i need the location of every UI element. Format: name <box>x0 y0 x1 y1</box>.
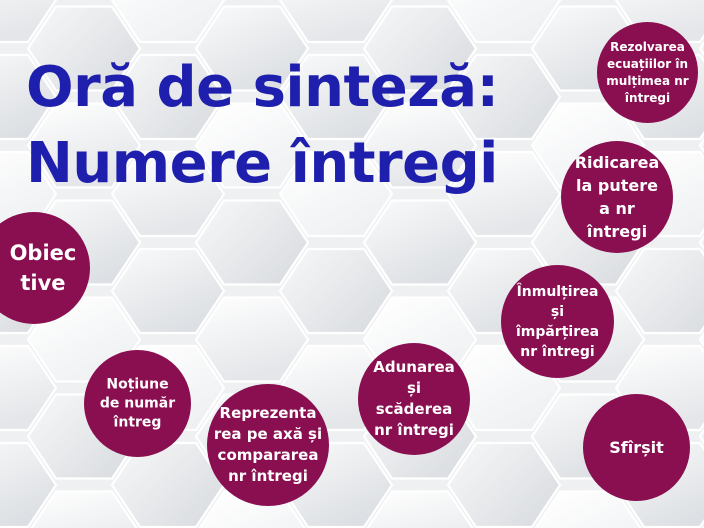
bubble-ridicarea-la-putere[interactable]: Ridicarea la putere a nr întregi <box>561 141 673 253</box>
bubble-sfirsit-label: Sfîrșit <box>582 437 692 459</box>
bubble-notiune-label: Noțiune de număr întreg <box>83 375 193 432</box>
bubble-reprezentarea-label: Reprezenta rea pe axă și compararea nr î… <box>204 403 332 487</box>
bubble-rezolvarea-ecuatiilor[interactable]: Rezolvarea ecuațiilor în mulțimea nr înt… <box>597 22 698 123</box>
title-line-2: Numere întregi <box>26 126 546 202</box>
bubble-adunarea-si-scaderea[interactable]: Adunarea și scăderea nr întregi <box>358 343 470 455</box>
presentation-slide: Oră de sinteză: Numere întregi Obiec tiv… <box>0 0 704 528</box>
bubble-reprezentarea-pe-axa[interactable]: Reprezenta rea pe axă și compararea nr î… <box>207 384 329 506</box>
bubble-ridicarea-label: Ridicarea la putere a nr întregi <box>559 151 675 243</box>
bubble-notiune-de-numar-intreg[interactable]: Noțiune de număr întreg <box>84 350 191 457</box>
bubble-sfirsit[interactable]: Sfîrșit <box>583 394 690 501</box>
bubble-inmultirea-si-impartirea[interactable]: Înmulțirea și împărțirea nr întregi <box>501 265 614 378</box>
bubble-adunarea-label: Adunarea și scăderea nr întregi <box>358 357 470 441</box>
title-line-1: Oră de sinteză: <box>26 50 546 126</box>
bubble-inmultirea-label: Înmulțirea și împărțirea nr întregi <box>500 282 616 362</box>
bubble-rezolvarea-label: Rezolvarea ecuațiilor în mulțimea nr înt… <box>598 39 698 107</box>
slide-title: Oră de sinteză: Numere întregi <box>26 50 546 202</box>
